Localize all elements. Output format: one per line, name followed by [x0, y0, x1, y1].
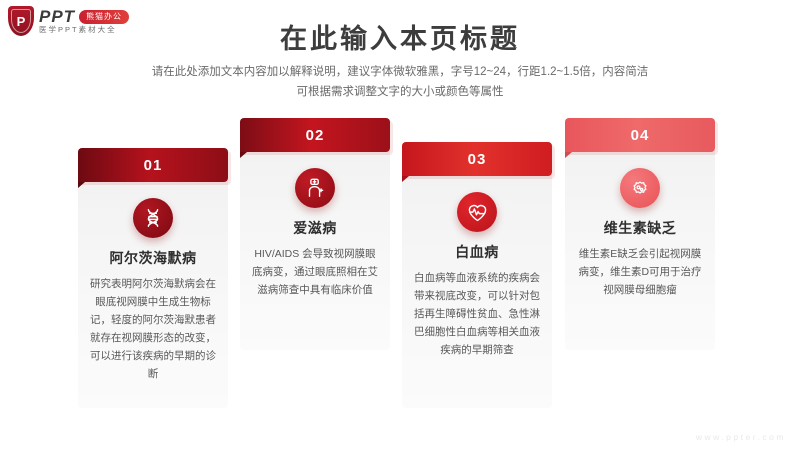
card-item[interactable]: 01 阿尔茨海默病 研究表明阿尔茨海默病会在眼底视网膜中生成生物标记，轻度的阿尔… — [78, 148, 228, 408]
dna-icon — [133, 198, 173, 238]
card-title: 爱滋病 — [251, 218, 379, 238]
card-number-badge: 03 — [402, 142, 552, 176]
card-item[interactable]: 02 爱滋病 HIV/AIDS 会导致视网膜眼底病变，通过眼底照相在艾滋病筛查中… — [240, 118, 390, 350]
card-item[interactable]: 03 白血病 白血病等血液系统的疾病会带来视底改变，可以针对包括再生障碍性贫血、… — [402, 142, 552, 408]
heart-pulse-icon — [457, 192, 497, 232]
card-grid: 01 阿尔茨海默病 研究表明阿尔茨海默病会在眼底视网膜中生成生物标记，轻度的阿尔… — [0, 0, 800, 450]
card-number-badge: 02 — [240, 118, 390, 152]
card-number-badge: 04 — [565, 118, 715, 152]
doctor-icon — [295, 168, 335, 208]
card-body: 爱滋病 HIV/AIDS 会导致视网膜眼底病变，通过眼底照相在艾滋病筛查中具有临… — [240, 150, 390, 350]
card-body: 维生素缺乏 维生素E缺乏会引起视网膜病变，维生素D可用于治疗视网膜母细胞瘤 — [565, 150, 715, 350]
virus-cell-icon — [620, 168, 660, 208]
card-description: 白血病等血液系统的疾病会带来视底改变，可以针对包括再生障碍性贫血、急性淋巴细胞性… — [413, 269, 541, 359]
card-description: 研究表明阿尔茨海默病会在眼底视网膜中生成生物标记，轻度的阿尔茨海默患者就存在视网… — [89, 275, 217, 383]
card-body: 白血病 白血病等血液系统的疾病会带来视底改变，可以针对包括再生障碍性贫血、急性淋… — [402, 174, 552, 408]
card-title: 维生素缺乏 — [576, 218, 704, 238]
card-title: 白血病 — [413, 242, 541, 262]
card-description: HIV/AIDS 会导致视网膜眼底病变，通过眼底照相在艾滋病筛查中具有临床价值 — [251, 245, 379, 299]
card-description: 维生素E缺乏会引起视网膜病变，维生素D可用于治疗视网膜母细胞瘤 — [576, 245, 704, 299]
card-body: 阿尔茨海默病 研究表明阿尔茨海默病会在眼底视网膜中生成生物标记，轻度的阿尔茨海默… — [78, 180, 228, 408]
watermark: www.ppter.com — [696, 432, 786, 442]
card-item[interactable]: 04 维生素缺乏 维生素E缺乏会引起视网膜病变，维生素D可用于治疗视网膜母细胞瘤 — [565, 118, 715, 350]
shield-letter: P — [17, 15, 26, 28]
card-title: 阿尔茨海默病 — [89, 248, 217, 268]
card-number-badge: 01 — [78, 148, 228, 182]
